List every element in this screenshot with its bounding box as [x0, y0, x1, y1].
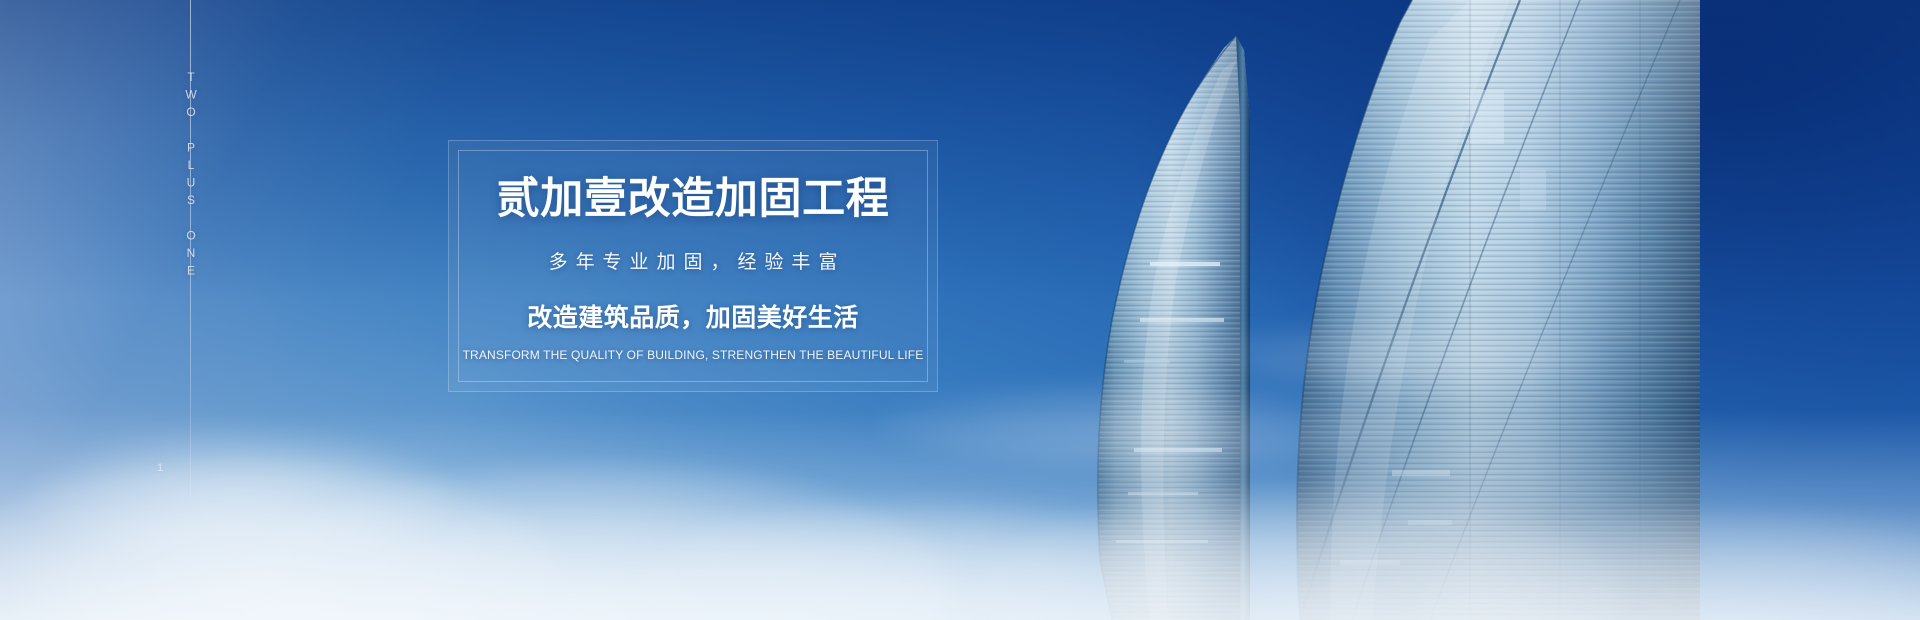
- hero-text-panel: 贰加壹改造加固工程 多年专业加固，经验丰富 改造建筑品质，加固美好生活 TRAN…: [448, 140, 938, 392]
- hero-banner: TWO PLUS ONE 1 贰加壹改造加固工程 多年专业加固，经验丰富 改造建…: [0, 0, 1920, 620]
- panel-content: 贰加壹改造加固工程 多年专业加固，经验丰富 改造建筑品质，加固美好生活 TRAN…: [449, 141, 937, 391]
- vertical-brand-text: TWO PLUS ONE: [178, 70, 204, 281]
- tower-left: [1090, 30, 1260, 620]
- hero-english-tagline: TRANSFORM THE QUALITY OF BUILDING, STREN…: [463, 348, 924, 362]
- hero-subline: 多年专业加固，经验丰富: [541, 247, 846, 274]
- hero-headline: 贰加壹改造加固工程: [497, 177, 890, 222]
- hero-tagline: 改造建筑品质，加固美好生活: [527, 298, 859, 334]
- skyscrapers-illustration: [1000, 0, 1920, 620]
- tower-right: [1280, 0, 1720, 620]
- vertical-slide-number: 1: [140, 462, 166, 476]
